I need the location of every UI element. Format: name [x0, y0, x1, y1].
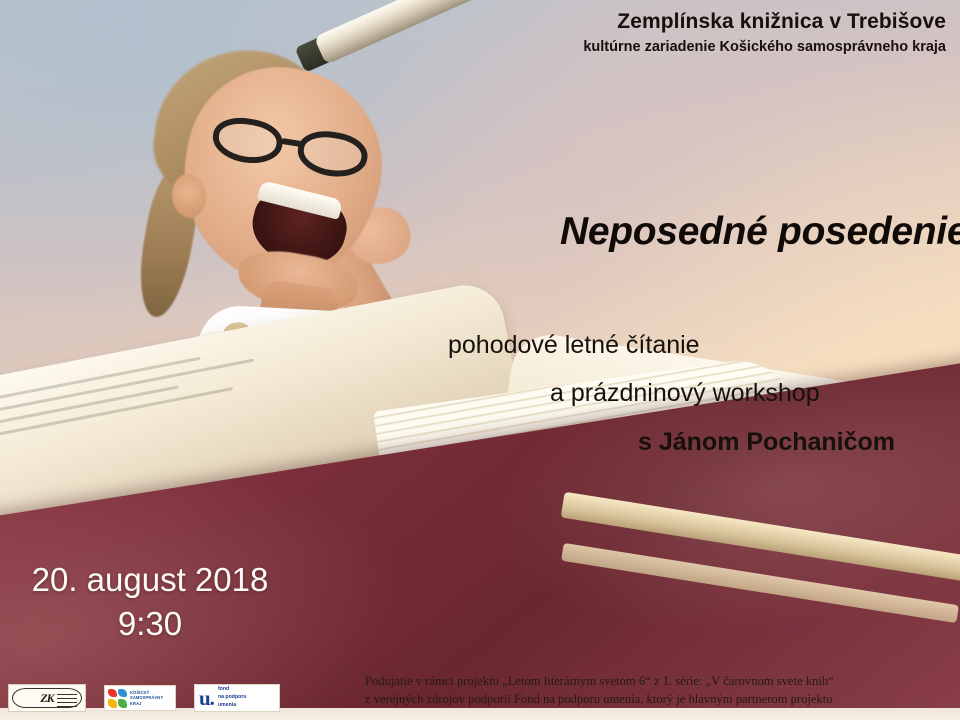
page-title: Neposedné posedenie: [560, 210, 950, 254]
funding-note: Podujatie v rámci projektu „Letom literá…: [365, 672, 955, 709]
logo-fond-na-podporu-umenia: u. fond na podporu umenia: [194, 684, 280, 712]
event-datetime: 20. august 2018 9:30: [0, 558, 300, 646]
funding-note-line-2: z verejných zdrojov podporil Fond na pod…: [365, 690, 955, 708]
ksk-wordmark: KOŠICKÝ SAMOSPRÁVNY KRAJ: [130, 690, 163, 707]
event-time: 9:30: [0, 602, 300, 646]
organization-name: Zemplínska knižnica v Trebišove: [583, 10, 946, 34]
subtitle-block: pohodové letné čítanie a prázdninový wor…: [430, 330, 950, 458]
event-date: 20. august 2018: [0, 558, 300, 602]
zk-monogram: ZK: [40, 691, 53, 706]
ksk-line-3: KRAJ: [130, 701, 163, 707]
book-lines-icon: [57, 694, 77, 710]
fpu-line-1: fond: [218, 686, 247, 694]
fpu-mark-icon: u.: [199, 688, 214, 709]
subtitle-line-2: a prázdninový workshop: [550, 378, 950, 409]
fpu-line-3: umenia: [218, 702, 247, 710]
fpu-wordmark: fond na podporu umenia: [218, 686, 247, 709]
fpu-line-2: na podporu: [218, 694, 247, 702]
logo-strip: ZK KOŠICKÝ SAMOSPRÁVNY KRAJ u. fond na p…: [8, 684, 280, 712]
event-poster: Zemplínska knižnica v Trebišove kultúrne…: [0, 0, 960, 720]
logo-zemplinska-kniznica: ZK: [8, 684, 86, 712]
poster-header: Zemplínska knižnica v Trebišove kultúrne…: [583, 10, 946, 57]
organization-subtitle: kultúrne zariadenie Košického samosprávn…: [583, 39, 946, 56]
subtitle-line-3: s Jánom Pochaničom: [638, 427, 950, 458]
logo-kosicky-samospravny-kraj: KOŠICKÝ SAMOSPRÁVNY KRAJ: [104, 685, 176, 711]
subtitle-line-1: pohodové letné čítanie: [448, 330, 950, 361]
ksk-line-2: SAMOSPRÁVNY: [130, 695, 163, 701]
funding-note-line-1: Podujatie v rámci projektu „Letom literá…: [365, 672, 955, 690]
ksk-pinwheel-icon: [108, 689, 127, 708]
